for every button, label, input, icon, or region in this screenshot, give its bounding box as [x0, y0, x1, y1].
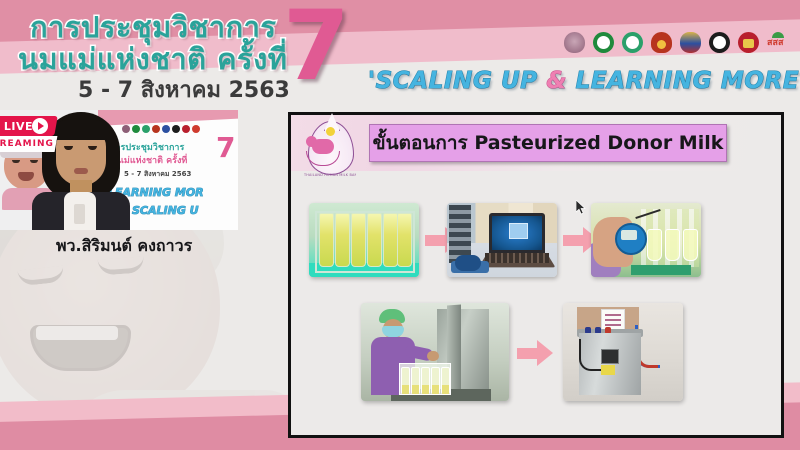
- ministry-of-public-health-logo: [620, 26, 645, 56]
- human-milk-bank-logo-caption: THAILAND HUMAN MILK BANK: [304, 173, 356, 181]
- tagline-part-1: 'SCALING UP: [368, 68, 546, 94]
- conference-date: 5 - 7 สิงหาคม 2563: [78, 72, 290, 107]
- sponsor-logo-row: สสส: [562, 26, 790, 56]
- thai-breastfeeding-foundation-logo: [591, 26, 616, 56]
- photo-digital-thermometer: [591, 203, 701, 277]
- inset-poster-date: 5 - 7 สิงหาคม 2563: [124, 169, 191, 180]
- presenter-video-inset: การประชุมวิชาการ นมแม่แห่งชาติ ครั้งที่ …: [0, 110, 238, 230]
- garuda-emblem-logo: [707, 26, 732, 56]
- live-label: LIVE: [4, 120, 33, 133]
- photo-milk-bottle-rack: [309, 203, 419, 277]
- inset-poster-edition-number: 7: [216, 134, 235, 162]
- human-milk-bank-drop-logo: THAILAND HUMAN MILK BANK: [300, 119, 360, 181]
- presenter-name: พว.สิริมนต์ คงถาวร: [56, 234, 192, 259]
- photo-nurse-loading-pasteurizer: [361, 303, 509, 401]
- tagline-part-2: LEARNING MORE': [567, 68, 800, 94]
- sss-label: สสส: [767, 39, 788, 48]
- mouse-pointer: [576, 200, 587, 215]
- red-crest-logo: [736, 26, 761, 56]
- play-icon: [32, 118, 48, 134]
- inset-poster-tagline-line-2: SCALING U: [132, 204, 199, 217]
- conference-tagline: 'SCALING UP & LEARNING MORE': [368, 68, 800, 94]
- slide-stage: การประชุมวิชาการ นมแม่แห่งชาติ ครั้งที่ …: [0, 0, 800, 450]
- thaihealth-sss-logo: สสส: [765, 26, 790, 56]
- flow-arrow-right: [517, 340, 553, 366]
- conference-edition-number: 7: [283, 0, 350, 94]
- slide-title: ขั้นตอนการ Pasteurized Donor Milk: [373, 128, 724, 158]
- tagline-ampersand: &: [546, 68, 567, 94]
- live-streaming-badge: LIVE STREAMING: [0, 116, 56, 158]
- streaming-label: STREAMING: [0, 139, 53, 149]
- slide-content-panel: THAILAND HUMAN MILK BANK ขั้นตอนการ Past…: [288, 112, 784, 438]
- photo-laptop-monitoring: [447, 203, 557, 277]
- royal-patronage-logo: [562, 26, 587, 56]
- photo-pasteurizer-machine: [563, 303, 683, 401]
- royal-thai-emblem-logo: [678, 26, 703, 56]
- temple-emblem-logo: [649, 26, 674, 56]
- slide-title-banner: ขั้นตอนการ Pasteurized Donor Milk: [369, 124, 727, 162]
